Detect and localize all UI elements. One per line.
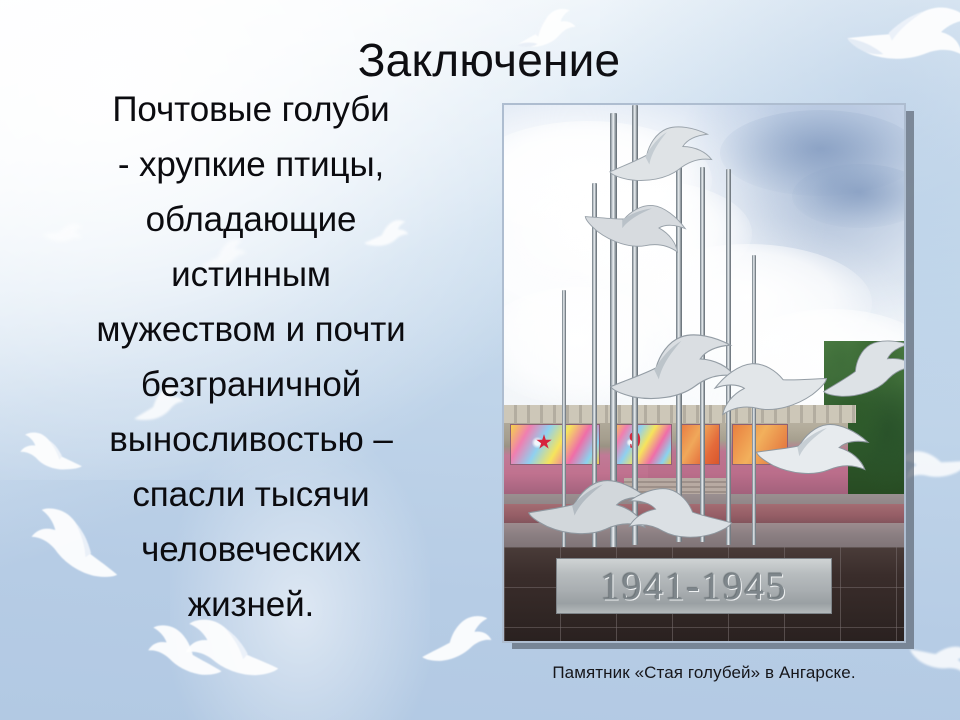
- photo-caption: Памятник «Стая голубей» в Ангарске.: [484, 662, 924, 684]
- photo-victory-banner: [510, 424, 600, 465]
- photo-victory-banner: [676, 424, 720, 465]
- monument-pole: [752, 255, 756, 544]
- body-line: мужеством и почти: [26, 302, 476, 357]
- photo-victory-banner: [732, 424, 788, 465]
- monument-inscription: 1941-1945: [557, 559, 831, 613]
- body-line: Почтовые голуби: [26, 82, 476, 137]
- body-line: - хрупкие птицы,: [26, 137, 476, 192]
- body-line: спасли тысячи: [26, 467, 476, 522]
- body-line: истинным: [26, 247, 476, 302]
- body-text: Почтовые голуби - хрупкие птицы, обладаю…: [26, 82, 476, 632]
- body-line: человеческих: [26, 522, 476, 577]
- body-line: жизней.: [26, 577, 476, 632]
- monument-pole: [726, 169, 731, 544]
- page-title: Заключение: [0, 34, 960, 86]
- monument-pole: [632, 105, 638, 545]
- monument-pole: [562, 290, 566, 547]
- dove-monument-photo: 9: [502, 103, 906, 643]
- monument-pole: [676, 161, 682, 542]
- monument-pole: [592, 183, 597, 547]
- body-line: безграничной: [26, 357, 476, 412]
- monument-pole: [700, 167, 705, 542]
- presentation-slide: 9: [0, 0, 960, 720]
- body-line: обладающие: [26, 192, 476, 247]
- body-line: выносливостью –: [26, 412, 476, 467]
- monument-plaque: 1941-1945: [556, 558, 832, 614]
- monument-pole: [610, 113, 617, 547]
